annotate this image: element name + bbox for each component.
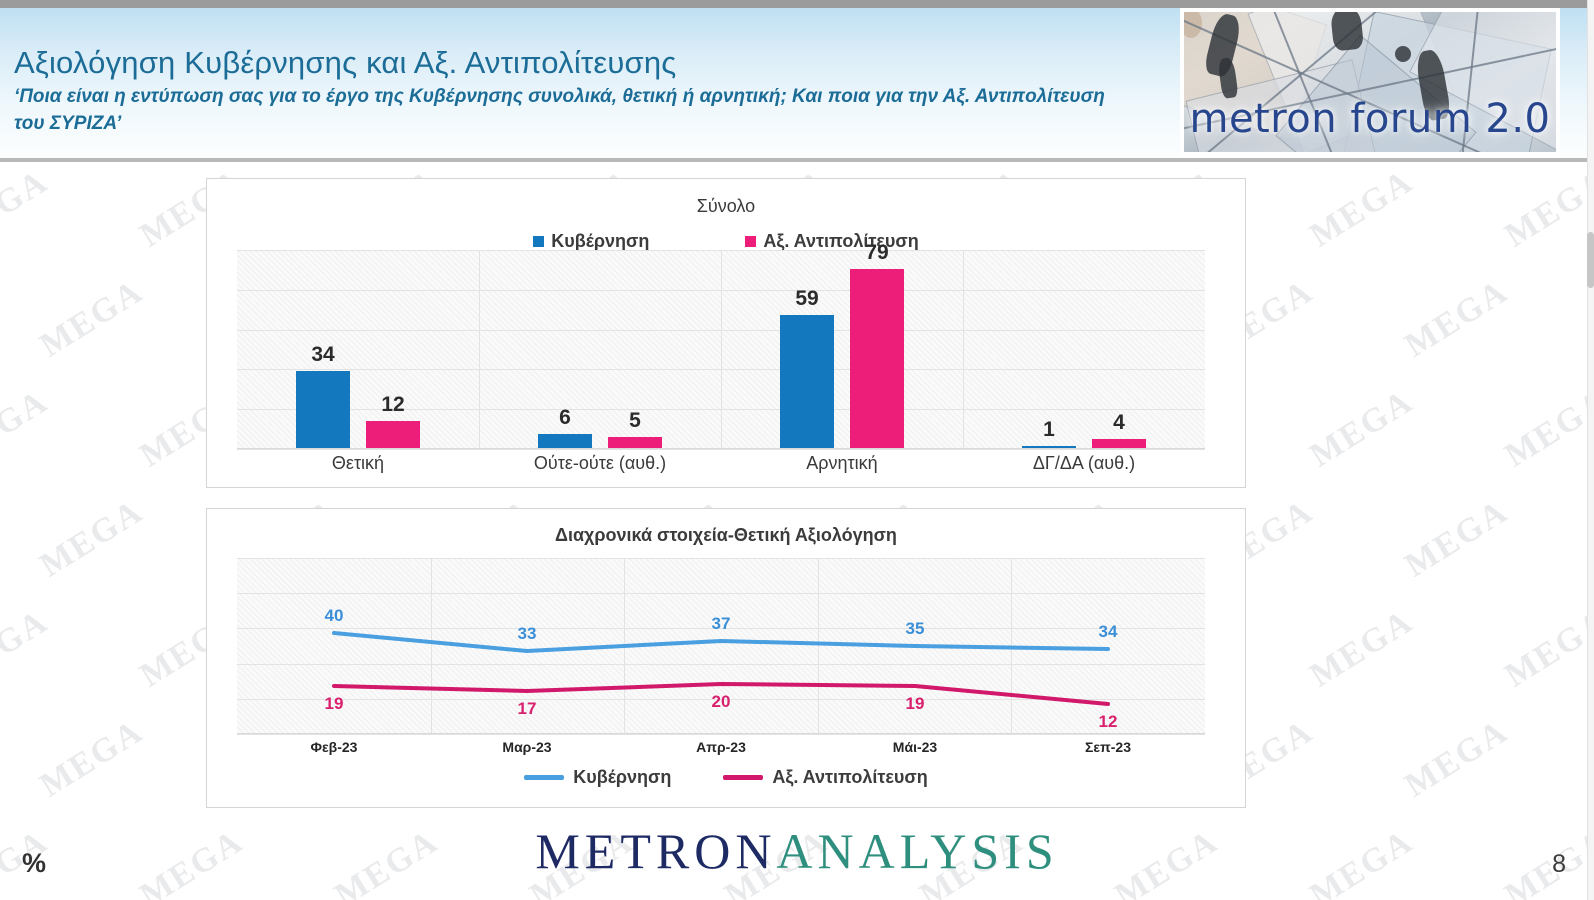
- watermark-text: MEGA: [34, 713, 151, 806]
- watermark-text: MEGA: [34, 273, 151, 366]
- x-axis-label: Μάι-23: [893, 739, 937, 755]
- bar-value-label: 6: [530, 406, 600, 430]
- line-value-label: 40: [325, 606, 344, 626]
- header-divider: [0, 158, 1594, 162]
- category-label: Θετική: [237, 453, 479, 479]
- watermark-text: MEGA: [1399, 273, 1516, 366]
- bar-value-label: 5: [600, 409, 670, 433]
- line-value-label: 34: [1099, 622, 1118, 642]
- gridline-vertical: [963, 250, 964, 448]
- legend-swatch-government-line: [524, 775, 564, 780]
- legend-swatch-opposition: [745, 236, 756, 247]
- legend-swatch-government: [533, 236, 544, 247]
- bar[interactable]: [538, 434, 592, 448]
- bar-value-label: 1: [1014, 418, 1084, 442]
- gridline-vertical: [721, 250, 722, 448]
- bar-plot-area: 341265597914: [237, 250, 1205, 449]
- window-top-strip: [0, 0, 1594, 8]
- bar-chart-legend: Κυβέρνηση Αξ. Αντιπολίτευση: [207, 231, 1245, 252]
- line-value-label: 33: [518, 624, 537, 644]
- x-axis-label: Απρ-23: [696, 739, 746, 755]
- unit-label: %: [22, 848, 46, 879]
- gridline: [237, 449, 1205, 450]
- line-value-label: 17: [518, 699, 537, 719]
- watermark-text: MEGA: [1399, 493, 1516, 586]
- legend-item-government[interactable]: Κυβέρνηση: [533, 231, 649, 252]
- bar-value-label: 79: [842, 241, 912, 265]
- metron-forum-logo: metron forum 2.0: [1180, 8, 1560, 156]
- brand-analysis: ANALYSIS: [776, 823, 1058, 879]
- vertical-scrollbar[interactable]: [1587, 0, 1594, 900]
- scrollbar-thumb[interactable]: [1587, 232, 1594, 288]
- legend-label-government-line: Κυβέρνηση: [573, 767, 671, 788]
- bar-value-label: 4: [1084, 411, 1154, 435]
- watermark-text: MEGA: [1499, 163, 1594, 256]
- watermark-text: MEGA: [1399, 713, 1516, 806]
- bar-chart-panel: Σύνολο Κυβέρνηση Αξ. Αντιπολίτευση 34126…: [206, 178, 1246, 488]
- line-plot-area: 40333735341917201912: [237, 558, 1205, 734]
- x-axis-label: Μαρ-23: [502, 739, 551, 755]
- bar[interactable]: [780, 315, 834, 448]
- watermark-text: MEGA: [1304, 603, 1421, 696]
- watermark-text: MEGA: [1499, 603, 1594, 696]
- legend-label-opposition-line: Αξ. Αντιπολίτευση: [772, 767, 927, 788]
- category-label: Ούτε-ούτε (αυθ.): [479, 453, 721, 479]
- watermark-text: MEGA: [0, 603, 55, 696]
- bar[interactable]: [1092, 439, 1146, 448]
- bar[interactable]: [296, 371, 350, 448]
- x-axis-label: Φεβ-23: [311, 739, 358, 755]
- watermark-text: MEGA: [34, 493, 151, 586]
- category-label: Αρνητική: [721, 453, 963, 479]
- line-value-label: 35: [906, 619, 925, 639]
- page-title: Αξιολόγηση Κυβέρνησης και Αξ. Αντιπολίτε…: [14, 45, 676, 81]
- line-value-label: 12: [1099, 712, 1118, 732]
- bar[interactable]: [608, 437, 662, 448]
- bar-value-label: 59: [772, 287, 842, 311]
- x-axis-label: Σεπ-23: [1085, 739, 1131, 755]
- line-value-label: 19: [906, 694, 925, 714]
- watermark-text: MEGA: [0, 383, 55, 476]
- line-value-label: 20: [712, 692, 731, 712]
- gridline-vertical: [479, 250, 480, 448]
- bar[interactable]: [1022, 446, 1076, 448]
- watermark-text: MEGA: [1304, 383, 1421, 476]
- bar-value-label: 34: [288, 343, 358, 367]
- watermark-text: MEGA: [1499, 383, 1594, 476]
- bar[interactable]: [850, 269, 904, 448]
- logo-frame: [1180, 8, 1560, 156]
- page-number: 8: [1552, 850, 1566, 879]
- legend-swatch-opposition-line: [723, 775, 763, 780]
- line-value-label: 19: [325, 694, 344, 714]
- line-chart-panel: Διαχρονικά στοιχεία-Θετική Αξιολόγηση 40…: [206, 508, 1246, 808]
- bar[interactable]: [366, 421, 420, 448]
- line-series[interactable]: [334, 633, 1108, 651]
- legend-item-opposition-line[interactable]: Αξ. Αντιπολίτευση: [723, 767, 927, 788]
- legend-item-government-line[interactable]: Κυβέρνηση: [524, 767, 671, 788]
- bar-value-label: 12: [358, 393, 428, 417]
- line-x-axis-labels: Φεβ-23Μαρ-23Απρ-23Μάι-23Σεπ-23: [237, 739, 1205, 761]
- watermark-text: MEGA: [0, 163, 55, 256]
- metron-analysis-brand: METRONANALYSIS: [0, 822, 1594, 880]
- line-chart-legend: Κυβέρνηση Αξ. Αντιπολίτευση: [207, 767, 1245, 788]
- line-chart-title: Διαχρονικά στοιχεία-Θετική Αξιολόγηση: [207, 525, 1245, 546]
- brand-metron: METRON: [535, 823, 776, 879]
- gridline: [237, 734, 1205, 735]
- category-label: ΔΓ/ΔΑ (αυθ.): [963, 453, 1205, 479]
- bar-chart-title: Σύνολο: [207, 196, 1245, 217]
- line-value-label: 37: [712, 614, 731, 634]
- bar-category-labels: ΘετικήΟύτε-ούτε (αυθ.)ΑρνητικήΔΓ/ΔΑ (αυθ…: [237, 453, 1205, 479]
- watermark-text: MEGA: [1304, 163, 1421, 256]
- page-subtitle: ‘Ποια είναι η εντύπωση σας για το έργο τ…: [14, 84, 1134, 138]
- legend-label-government: Κυβέρνηση: [551, 231, 649, 252]
